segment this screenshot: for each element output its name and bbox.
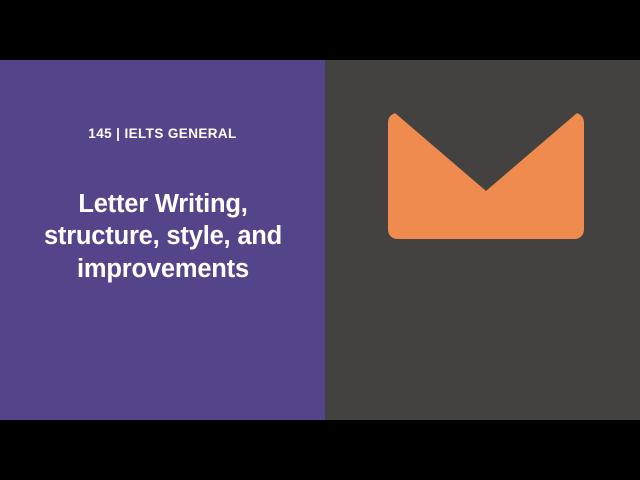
episode-eyebrow-label: 145 | IELTS GENERAL — [0, 127, 325, 141]
letterbox-bar-bottom — [0, 420, 640, 480]
letterbox-bar-top — [0, 0, 640, 60]
right-graphic-panel — [325, 60, 640, 420]
slide-content: 145 | IELTS GENERAL Letter Writing, stru… — [0, 60, 640, 420]
slide-title: Letter Writing, structure, style, and im… — [18, 188, 308, 285]
envelope-icon — [388, 113, 584, 239]
thumbnail-slide: 145 | IELTS GENERAL Letter Writing, stru… — [0, 0, 640, 480]
left-text-panel: 145 | IELTS GENERAL Letter Writing, stru… — [0, 60, 325, 420]
